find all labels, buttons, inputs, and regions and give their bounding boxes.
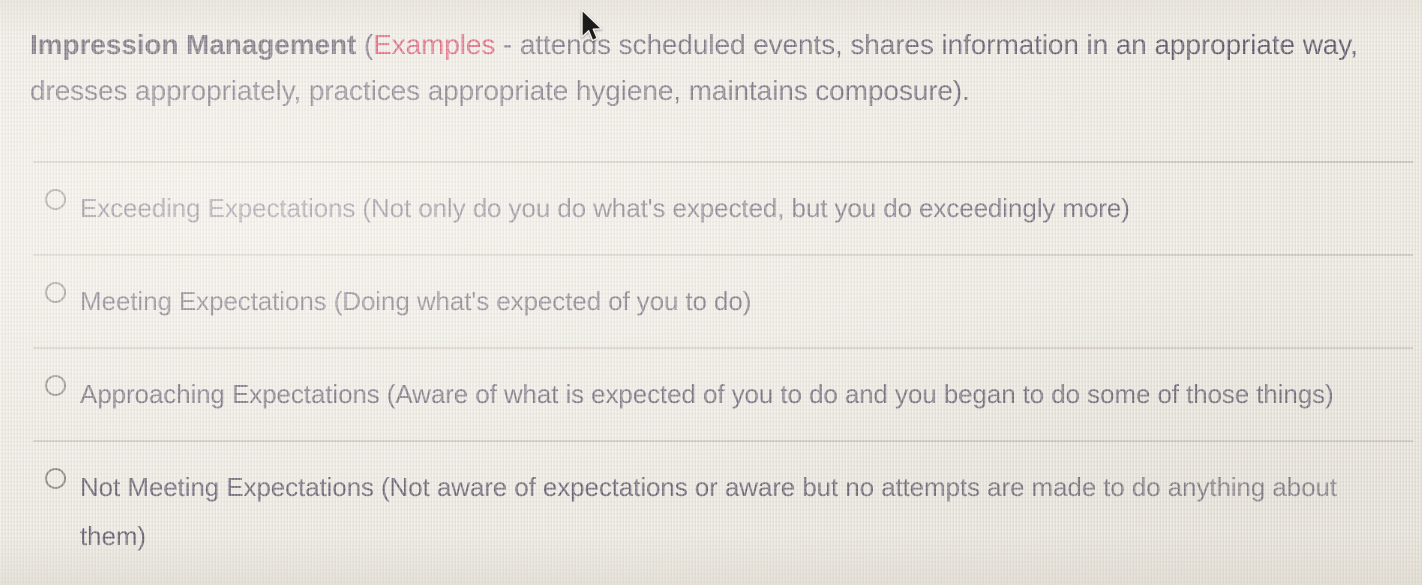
option-row-meeting-expectations[interactable]: Meeting Expectations (Doing what's expec… [45,256,1405,347]
option-divider [33,440,1413,442]
question-prompt: Impression Management (Examples - attend… [30,22,1395,114]
radio-button-icon-not-meeting-expectations[interactable] [45,468,66,489]
question-title: Impression Management [30,29,356,60]
option-row-not-meeting-expectations[interactable]: Not Meeting Expectations (Not aware of e… [45,442,1405,582]
radio-button-icon-meeting-expectations[interactable] [45,282,66,303]
option-divider [33,347,1413,349]
option-row-approaching-expectations[interactable]: Approaching Expectations (Aware of what … [45,349,1405,440]
option-label-meeting-expectations: Meeting Expectations (Doing what's expec… [80,277,751,326]
option-row-exceeding-expectations[interactable]: Exceeding Expectations (Not only do you … [45,163,1405,254]
question-open-paren: ( [356,29,373,60]
radio-button-icon-approaching-expectations[interactable] [45,375,66,396]
option-divider [33,254,1413,256]
option-label-exceeding-expectations: Exceeding Expectations (Not only do you … [80,184,1130,233]
option-label-approaching-expectations: Approaching Expectations (Aware of what … [80,370,1334,419]
option-divider [33,161,1413,163]
answer-options-list: Exceeding Expectations (Not only do you … [0,161,1422,582]
radio-button-icon-exceeding-expectations[interactable] [45,189,66,210]
option-label-not-meeting-expectations: Not Meeting Expectations (Not aware of e… [80,463,1400,561]
question-examples-label: Examples [373,29,495,60]
